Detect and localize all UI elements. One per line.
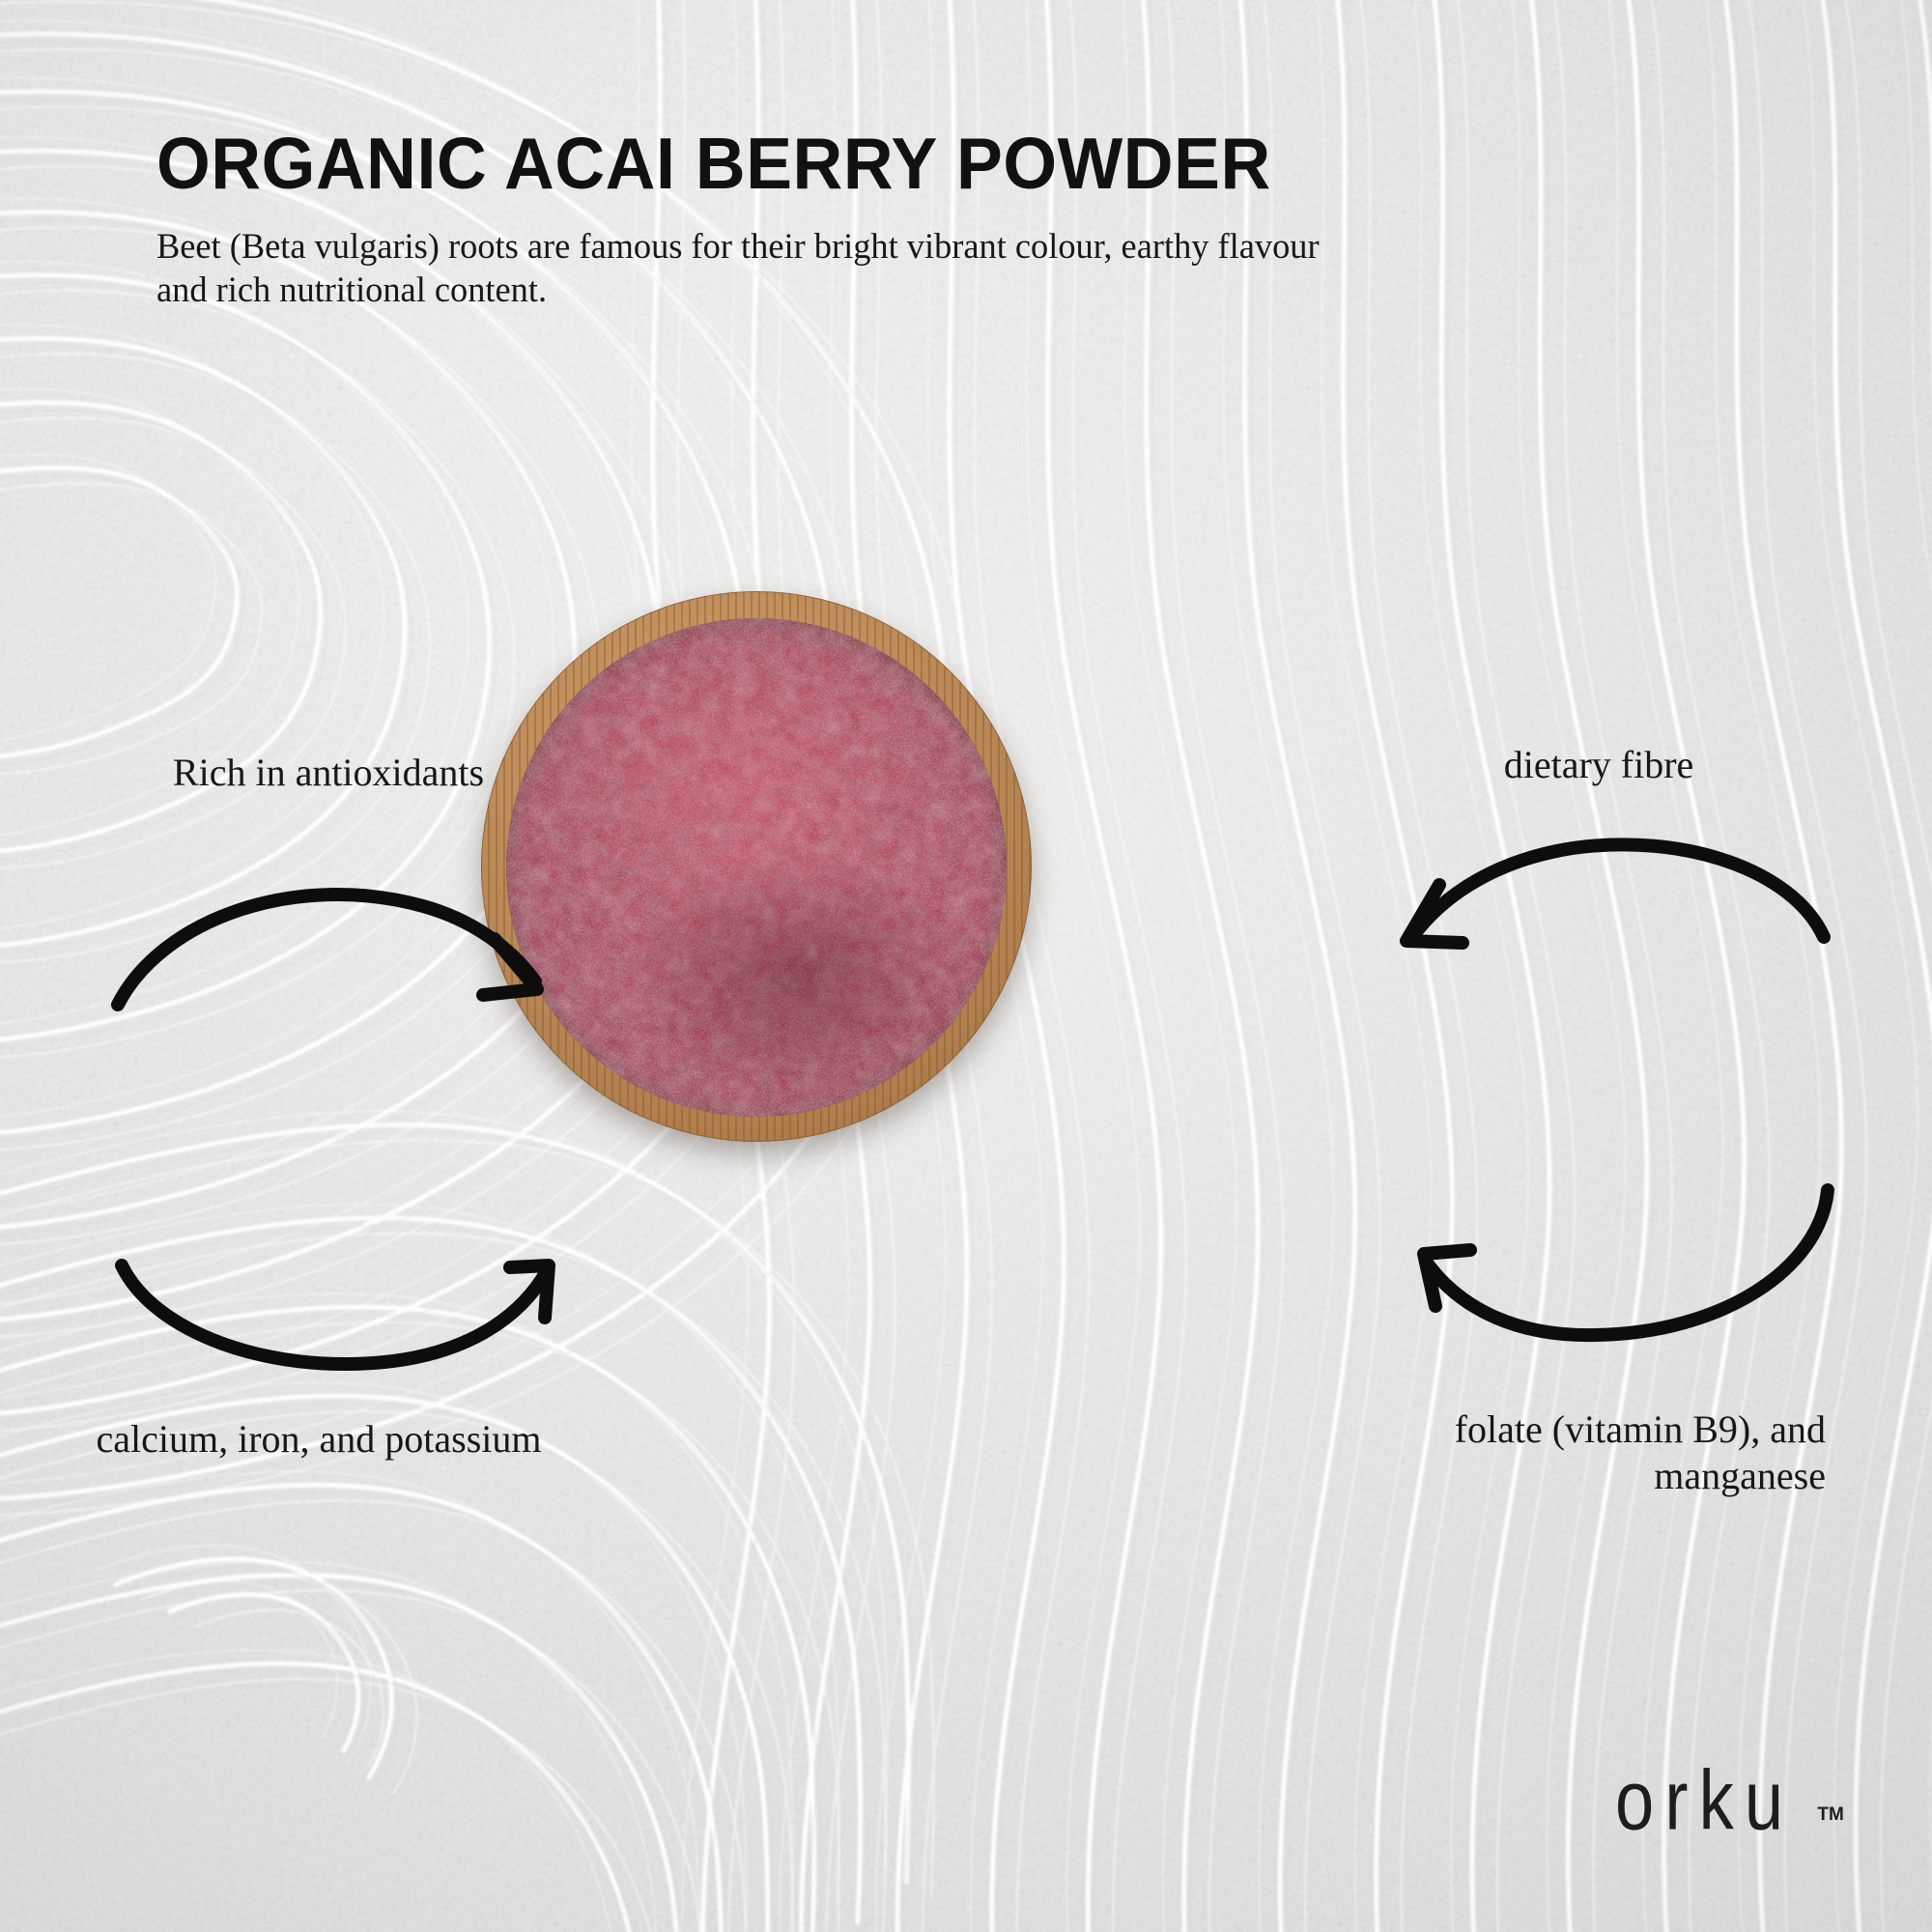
powder-lighting bbox=[506, 618, 1007, 1117]
page-subtitle: Beet (Beta vulgaris) roots are famous fo… bbox=[156, 225, 1349, 312]
trademark-symbol: TM bbox=[1817, 1804, 1843, 1826]
wooden-bowl bbox=[481, 591, 1032, 1142]
arrow-bottom-right-icon bbox=[1383, 1180, 1837, 1383]
arrow-bottom-left-icon bbox=[104, 1227, 558, 1420]
arrow-top-left-icon bbox=[104, 850, 558, 1043]
page-title: ORGANIC ACAI BERRY POWDER bbox=[156, 128, 1466, 200]
poster-canvas: ORGANIC ACAI BERRY POWDER Beet (Beta vul… bbox=[0, 0, 1932, 1932]
callout-bottom-left: calcium, iron, and potassium bbox=[92, 1416, 546, 1463]
header-block: ORGANIC ACAI BERRY POWDER Beet (Beta vul… bbox=[156, 128, 1528, 312]
callout-top-left: Rich in antioxidants bbox=[101, 750, 555, 796]
brand-logo: orku TM bbox=[1615, 1764, 1844, 1841]
callout-bottom-right: folate (vitamin B9), and manganese bbox=[1362, 1406, 1826, 1498]
acai-powder-surface bbox=[506, 618, 1007, 1117]
arrow-top-right-icon bbox=[1383, 823, 1837, 1026]
product-image bbox=[481, 591, 1032, 1142]
callout-top-right: dietary fibre bbox=[1372, 742, 1826, 788]
brand-name: orku bbox=[1615, 1761, 1794, 1841]
